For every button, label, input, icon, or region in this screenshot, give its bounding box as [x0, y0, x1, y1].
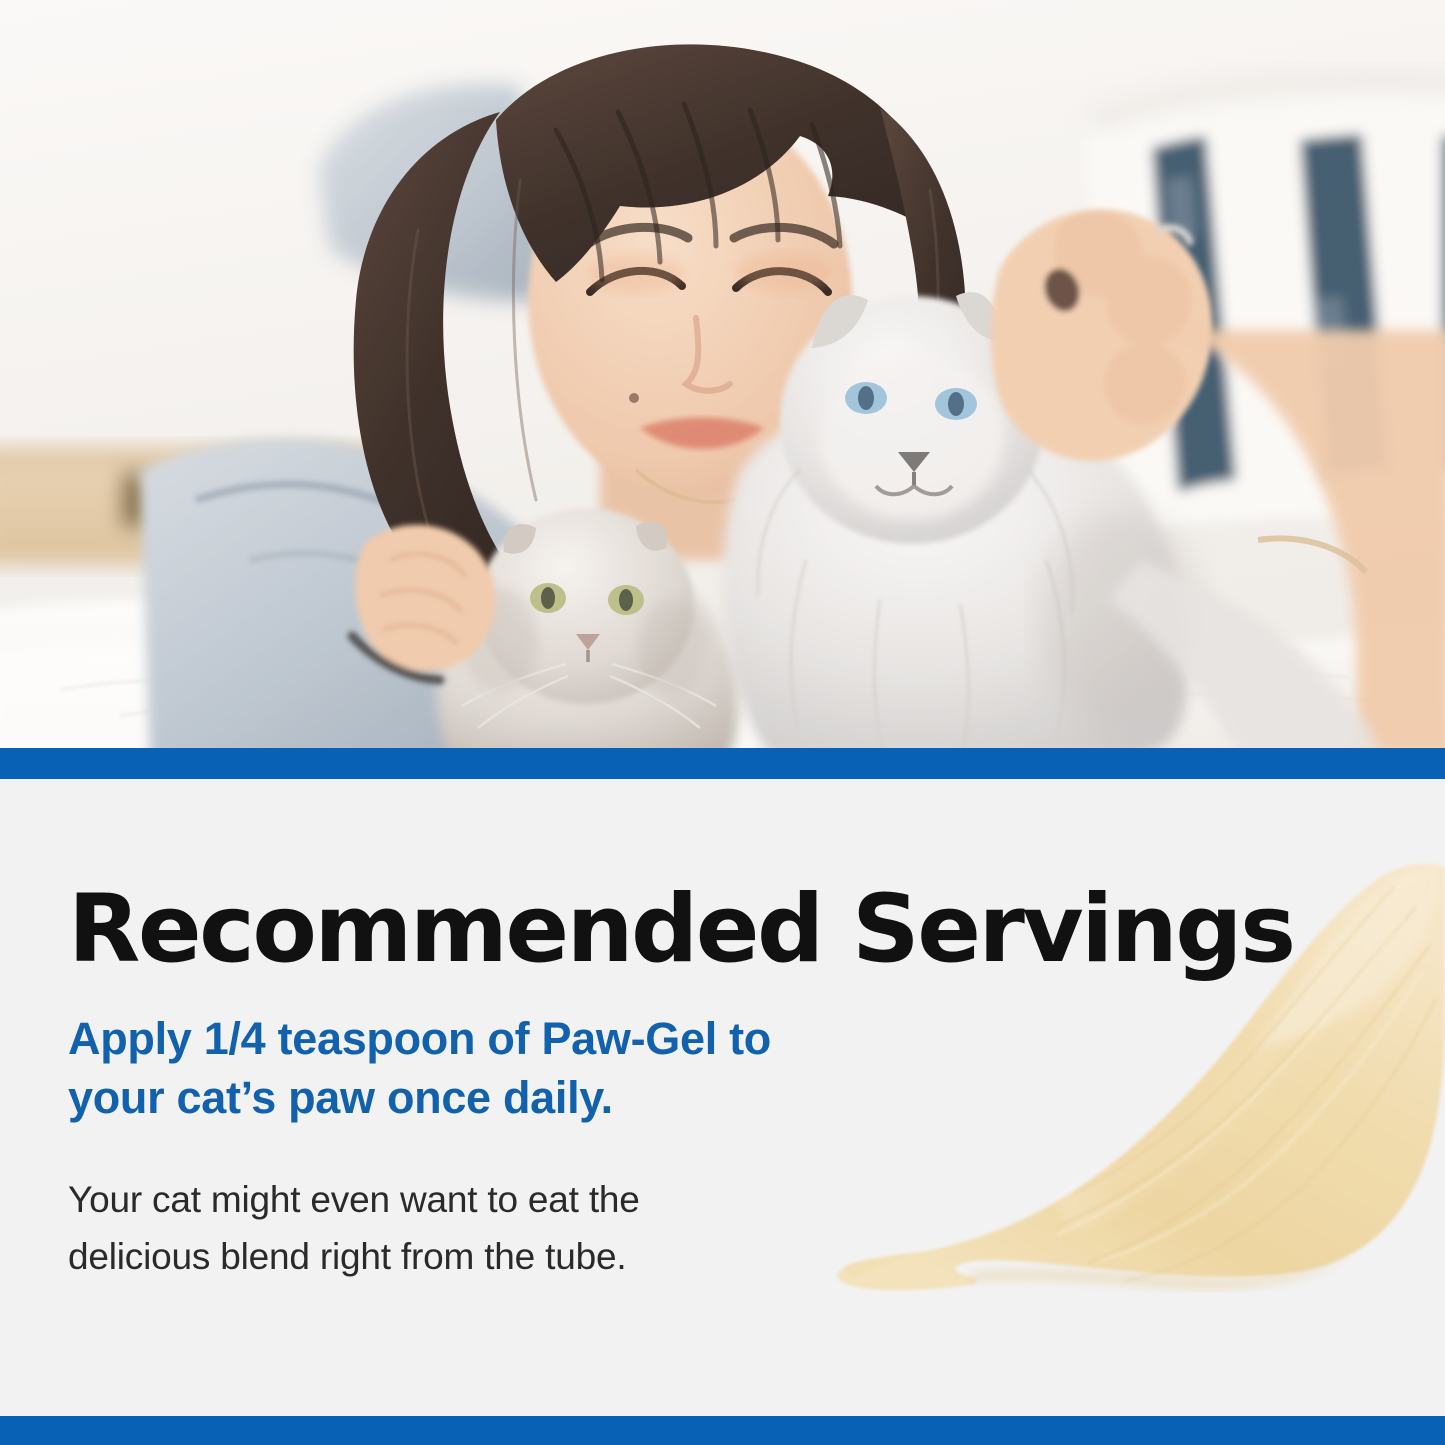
product-infographic-page: Recommended Servings Apply 1/4 teaspoon … — [0, 0, 1445, 1445]
content-panel: Recommended Servings Apply 1/4 teaspoon … — [0, 779, 1445, 1416]
instructions-text-block: Recommended Servings Apply 1/4 teaspoon … — [68, 883, 858, 1286]
hero-photo — [0, 0, 1445, 748]
supporting-description: Your cat might even want to eat the deli… — [68, 1127, 768, 1286]
blue-divider-bar — [0, 748, 1445, 779]
page-title: Recommended Servings — [68, 883, 858, 977]
blue-footer-bar — [0, 1416, 1445, 1445]
dosage-instruction: Apply 1/4 teaspoon of Paw-Gel to your ca… — [68, 977, 808, 1127]
